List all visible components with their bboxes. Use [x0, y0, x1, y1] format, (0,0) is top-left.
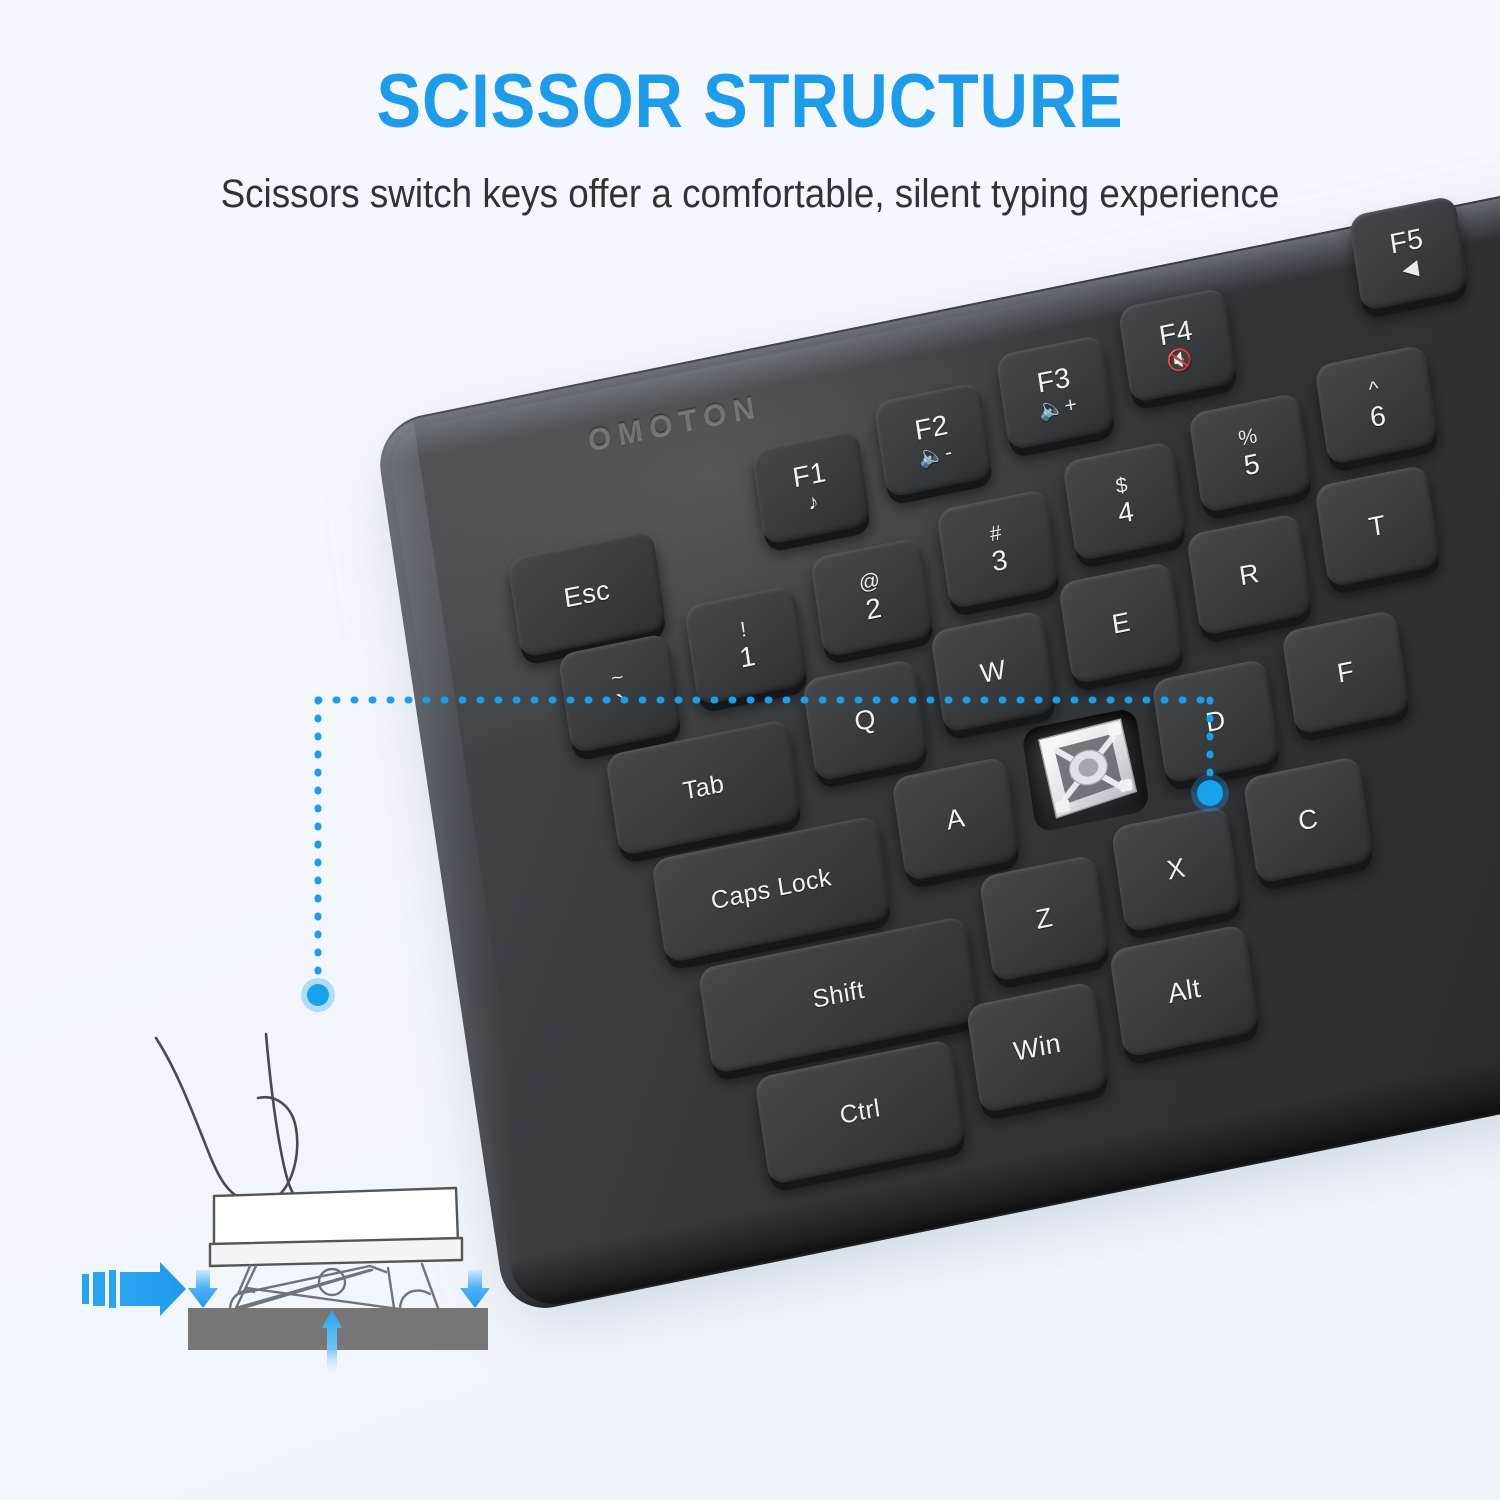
previous-track-icon: ◀ [1401, 257, 1420, 281]
page-title: SCISSOR STRUCTURE [90, 58, 1410, 145]
callout-endpoint-halo [301, 978, 335, 1012]
key-f5-label: F5 [1388, 224, 1425, 258]
key-f3-label: F3 [1035, 363, 1072, 397]
key-4-label: 4 [1116, 497, 1136, 528]
keycap-icon [210, 1188, 462, 1266]
key-z-label: Z [1034, 901, 1055, 935]
scissor-mechanism-diagram [70, 1020, 540, 1400]
music-note-icon: ♪ [807, 491, 821, 514]
key-tab-label: Tab [681, 769, 726, 806]
key-f1-label: F1 [791, 458, 828, 492]
key-5-label: 5 [1242, 449, 1262, 480]
press-arrow-right-icon [82, 1262, 186, 1316]
key-x-label: X [1165, 852, 1188, 886]
key-backtick-label: ` [615, 690, 629, 720]
press-arrow-down-left-icon [188, 1270, 218, 1308]
key-3-label: 3 [990, 546, 1010, 577]
key-5-shift-label: % [1237, 425, 1259, 450]
key-2-label: 2 [864, 594, 884, 625]
key-tilde-label: ~ [610, 666, 626, 689]
key-w-label: W [978, 654, 1008, 690]
key-c-label: C [1296, 802, 1320, 837]
callout-endpoint-dot [307, 984, 329, 1006]
key-6-label: 6 [1368, 401, 1388, 432]
key-win-label: Win [1011, 1027, 1063, 1067]
key-r-label: R [1237, 557, 1261, 592]
key-f-label: F [1335, 655, 1356, 689]
key-1-label: 1 [738, 642, 758, 673]
mute-icon: 🔇 [1165, 348, 1194, 374]
key-1-shift-label: ! [739, 619, 748, 641]
scissor-linkage-icon [230, 1264, 438, 1310]
key-ctrl-label: Ctrl [838, 1094, 882, 1131]
key-t-label: T [1367, 509, 1388, 543]
key-alt-label: Alt [1166, 972, 1203, 1009]
key-2-shift-label: @ [857, 569, 881, 594]
volume-down-icon: 🔈- [917, 441, 954, 469]
key-esc-label: Esc [562, 574, 612, 614]
key-f2-label: F2 [913, 411, 950, 445]
key-caps-lock-label: Caps Lock [709, 863, 833, 916]
baseplate-icon [188, 1308, 488, 1350]
key-d-label: D [1204, 704, 1228, 739]
key-6-shift-label: ^ [1367, 378, 1380, 401]
key-3-shift-label: # [988, 522, 1003, 545]
product-feature-image: SCISSOR STRUCTURE Scissors switch keys o… [0, 0, 1500, 1500]
finger-icon [156, 1034, 298, 1205]
key-shift-label: Shift [811, 975, 867, 1014]
key-f4-label: F4 [1157, 316, 1194, 350]
scissor-switch-icon [1028, 713, 1144, 827]
key-a-label: A [944, 802, 967, 836]
press-arrow-down-right-icon [460, 1270, 490, 1308]
key-e-label: E [1110, 606, 1133, 640]
key-4-shift-label: $ [1114, 474, 1129, 497]
key-q-label: Q [852, 703, 878, 738]
